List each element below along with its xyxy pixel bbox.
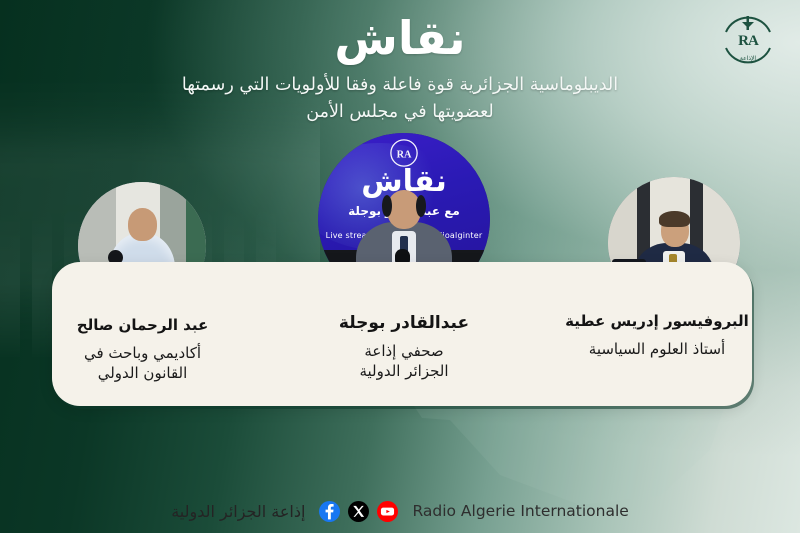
svg-text:RA: RA: [397, 150, 412, 161]
speaker-name: البروفيسور إدريس عطية: [562, 312, 752, 332]
speaker-role-line-2: الجزائر الدولية: [306, 361, 502, 381]
speaker-role-line-1: صحفي إذاعة: [306, 341, 502, 361]
speaker-role: أكاديمي وباحث في القانون الدولي: [50, 343, 235, 384]
speaker-card-right: البروفيسور إدريس عطية أستاذ العلوم السيا…: [562, 312, 752, 359]
footer-bar: Radio Algerie Internationale إذاعة الجزا…: [0, 489, 800, 533]
speaker-name: عبدالقادر بوجلة: [306, 312, 502, 334]
speaker-card-center: عبدالقادر بوجلة صحفي إذاعة الجزائر الدول…: [306, 312, 502, 382]
poster-subtitle: الديبلوماسية الجزائرية قوة فاعلة وفقا لل…: [0, 72, 800, 126]
page-title: نقاش: [0, 14, 800, 62]
x-twitter-icon[interactable]: [348, 501, 369, 522]
poster-header: نقاش الديبلوماسية الجزائرية قوة فاعلة وف…: [0, 0, 800, 127]
subtitle-line-2: لعضويتها في مجلس الأمن: [0, 99, 800, 126]
subtitle-line-1: الديبلوماسية الجزائرية قوة فاعلة وفقا لل…: [0, 72, 800, 99]
speaker-role-line-2: القانون الدولي: [50, 363, 235, 383]
footer-arabic-label: إذاعة الجزائر الدولية: [171, 502, 305, 521]
speaker-role-line-1: أستاذ العلوم السياسية: [562, 339, 752, 359]
speaker-card-left: عبد الرحمان صالح أكاديمي وباحث في القانو…: [50, 316, 235, 383]
speaker-role-line-1: أكاديمي وباحث في: [50, 343, 235, 363]
speaker-role: صحفي إذاعة الجزائر الدولية: [306, 341, 502, 382]
speaker-name: عبد الرحمان صالح: [50, 316, 235, 336]
poster-canvas: RA الإذاعة نقاش الديبلوماسية الجزائرية ق…: [0, 0, 800, 533]
speaker-role: أستاذ العلوم السياسية: [562, 339, 752, 359]
facebook-icon[interactable]: [319, 501, 340, 522]
social-links: [319, 501, 398, 522]
youtube-icon[interactable]: [377, 501, 398, 522]
footer-latin-label: Radio Algerie Internationale: [412, 502, 628, 520]
